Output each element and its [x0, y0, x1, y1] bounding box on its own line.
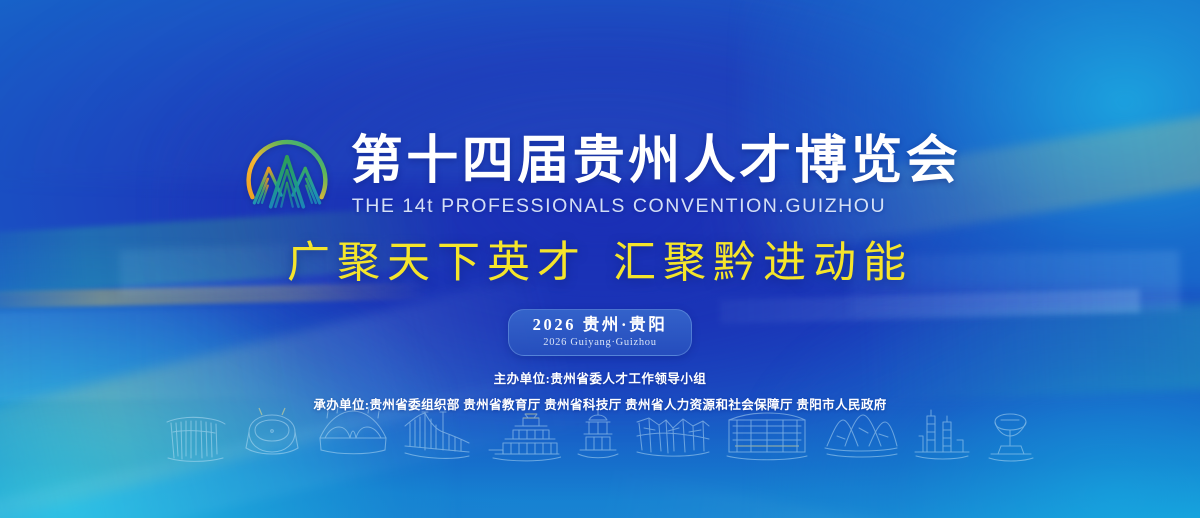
slogan-right-phrase: 汇聚黔进动能 [613, 239, 913, 287]
host-organizer-line: 主办单位:贵州省委人才工作领导小组 [494, 368, 707, 387]
event-main-title: 第十四届贵州人才博览会 [349, 134, 962, 189]
date-location-en: 2026 Guiyang·Guizhou [543, 337, 656, 350]
event-banner: 第十四届贵州人才博览会 THE 14t PROFESSIONALS CONVEN… [0, 0, 1200, 518]
date-location-badge: 2026 贵州·贵阳 2026 Guiyang·Guizhou [508, 309, 693, 356]
event-slogan: 广聚天下英才汇聚黔进动能 [287, 242, 913, 285]
slogan-left-phrase: 广聚天下英才 [287, 239, 587, 287]
banner-content: 第十四届贵州人才博览会 THE 14t PROFESSIONALS CONVEN… [0, 0, 1200, 518]
title-row: 第十四届贵州人才博览会 THE 14t PROFESSIONALS CONVEN… [239, 128, 962, 224]
title-block: 第十四届贵州人才博览会 THE 14t PROFESSIONALS CONVEN… [349, 134, 962, 218]
mountain-arc-logo-icon [239, 128, 335, 224]
co-organizer-line: 承办单位:贵州省委组织部 贵州省教育厅 贵州省科技厅 贵州省人力资源和社会保障厅… [313, 394, 886, 413]
date-location-cn: 2026 贵州·贵阳 [533, 315, 668, 336]
event-english-subtitle: THE 14t PROFESSIONALS CONVENTION.GUIZHOU [349, 195, 962, 218]
